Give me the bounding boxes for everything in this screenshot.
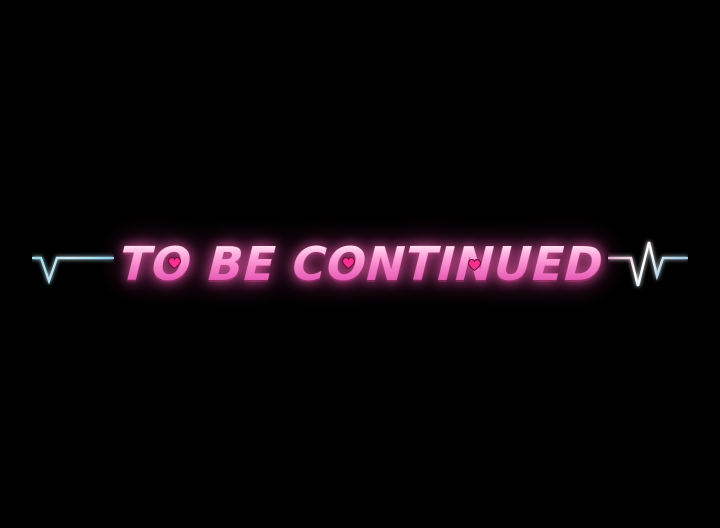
banner-row: TO BE CONTINUED TO BE CONTINUED — [0, 228, 720, 300]
to-be-continued-card: TO BE CONTINUED TO BE CONTINUED — [0, 0, 720, 528]
headline-wrapper: TO BE CONTINUED TO BE CONTINUED — [120, 241, 603, 287]
heartbeat-pulse-icon — [608, 233, 688, 295]
flatline-dip-icon — [32, 241, 114, 287]
page-title: TO BE CONTINUED — [119, 241, 605, 287]
